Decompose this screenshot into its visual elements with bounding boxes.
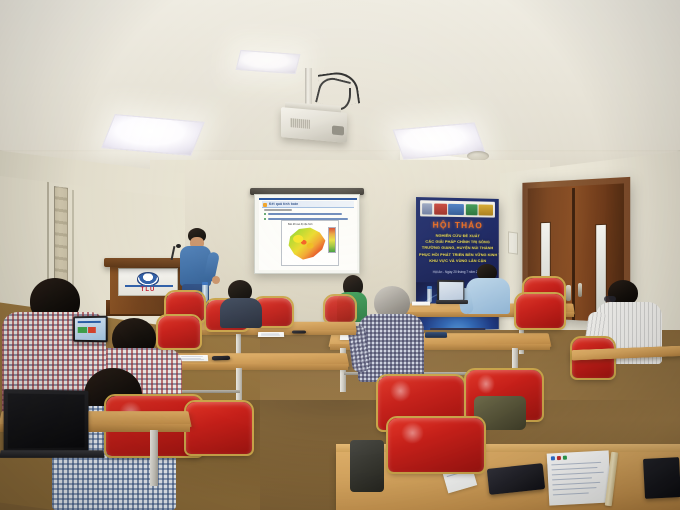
document-row3 [258, 332, 284, 337]
banner-line-3: PHỤC HỒI PHÁT TRIỂN BỀN VỮNG KINH TẾ [419, 251, 496, 257]
chair-back-left-center-rim [323, 294, 357, 324]
chair-back-right-2[interactable] [516, 294, 564, 328]
door-center-seam [572, 188, 575, 320]
sponsor-logo-3-icon [448, 203, 464, 214]
document-row2-line-0 [181, 356, 203, 357]
door-handle-left[interactable] [566, 285, 571, 301]
seminar-room-photo: Kết quả tính toán Bản đồ cao độ địa hình [0, 0, 680, 510]
sponsor-logo-2-icon [434, 203, 447, 214]
chair-front-left-2[interactable] [186, 402, 252, 454]
chair-middle-center-gleam [390, 380, 411, 402]
laptop-front-left-keyboard[interactable] [0, 450, 105, 458]
banner-line-4: KHU VỰC VÀ VÙNG LÂN CẬN [419, 258, 496, 264]
chair-back-right-2-rim [514, 292, 566, 330]
document-row2 [178, 355, 209, 361]
projector-vent [290, 118, 310, 129]
wall-sign-plate [508, 231, 518, 254]
slide-figure-frame: Bản đồ cao độ địa hình [281, 220, 339, 266]
sponsor-logo-4-icon [465, 204, 477, 215]
slide-top-accent [259, 198, 357, 200]
banner-line-2: TRƯỜNG GIANG, HUYỆN NÚI THÀNH [419, 245, 496, 252]
handout-line-1 [552, 467, 598, 470]
sponsor-logo-1-icon [422, 203, 432, 214]
handout-line-2 [552, 472, 604, 476]
map-legend [328, 227, 336, 253]
laptop-mid-left-display [75, 318, 106, 340]
banner-body-text: NGHIÊN CỨU ĐỀ XUẤT CÁC GIẢI PHÁP CHỈNH T… [419, 233, 496, 264]
banner-sponsor-logos [420, 200, 495, 217]
slide-subheading-line [264, 209, 292, 211]
chair-foreground-shadow-block [350, 440, 384, 492]
projector-lens-icon [332, 125, 344, 135]
handout-line-0 [551, 462, 601, 466]
slide-bullet-icon-0 [264, 213, 266, 215]
laptop-mid-left-chart-green [78, 327, 87, 333]
smartphone-row3[interactable] [292, 330, 306, 333]
water-bottle-back-cap [427, 286, 432, 289]
ceiling-light-panel-rear [236, 50, 301, 74]
handout-line-4 [552, 482, 600, 486]
laptop-mid-left-chart-red [88, 327, 96, 333]
document-row2-line-2 [181, 360, 204, 361]
document-back-row [412, 302, 430, 306]
laptop-front-left-display [8, 393, 85, 448]
handout-line-6 [553, 493, 589, 496]
projection-screen: Kết quả tính toán Bản đồ cao độ địa hình [254, 194, 360, 274]
water-bottle-podium-cap [202, 282, 208, 285]
attendee-row3-left-torso [220, 298, 262, 328]
chair-mid-left[interactable] [158, 316, 200, 348]
wallet[interactable] [643, 457, 680, 499]
laptop-front-left[interactable] [4, 389, 89, 452]
slide-title-icon [263, 203, 267, 207]
laptop-back-center-base [436, 300, 468, 304]
chair-front-left-2-rim [184, 400, 254, 456]
chair-foreground-center[interactable] [388, 418, 484, 472]
laptop-mid-left-titlebar [78, 321, 101, 323]
document-row2-line-1 [181, 358, 201, 359]
laptop-mid-left[interactable] [73, 316, 108, 343]
elevation-map-graphic [287, 227, 327, 261]
chair-back-left-center[interactable] [325, 296, 355, 322]
presenter-hand [212, 276, 220, 284]
university-emblem-icon [137, 272, 159, 286]
chair-foreground-center-rim [386, 416, 486, 474]
document-row3-line-1 [261, 335, 280, 336]
handout-line-5 [553, 487, 597, 490]
chair-mid-left-rim [156, 314, 202, 350]
podium-top [104, 258, 190, 267]
smartphone-row2[interactable] [212, 356, 230, 361]
handout-logo-icon-3 [563, 456, 567, 460]
laptop-back-center-display [439, 281, 463, 299]
table-front-left-leg [150, 430, 158, 486]
handout-document[interactable] [547, 450, 612, 505]
laptop-back-center[interactable] [437, 280, 464, 301]
tablet-device-center[interactable] [425, 332, 447, 338]
slide-figure-caption: Bản đồ cao độ địa hình [288, 223, 313, 226]
slide-bullet-line-0 [268, 213, 342, 215]
door-handle-right[interactable] [578, 283, 582, 297]
handout-line-3 [552, 477, 592, 480]
chair-middle-right-gleam [477, 374, 495, 394]
slide-title: Kết quả tính toán [269, 202, 298, 206]
presentation-slide: Kết quả tính toán Bản đồ cao độ địa hình [259, 198, 357, 270]
slide-bullet-icon-1 [264, 218, 266, 220]
handout-logo-icon-1 [551, 456, 555, 460]
banner-headline: HỘI THẢO [416, 219, 499, 230]
projector-mount-rod [305, 68, 312, 106]
microphone-icon [176, 244, 181, 248]
handout-logo-icon-2 [557, 456, 561, 460]
sponsor-logo-5-icon [479, 204, 493, 215]
